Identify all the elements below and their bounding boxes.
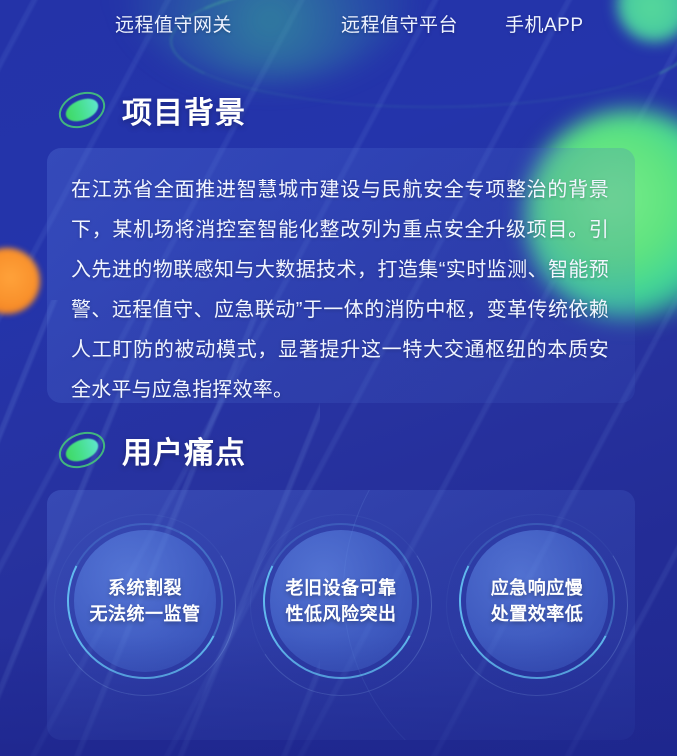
pain-point-label: 系统割裂 无法统一监管 <box>90 575 201 627</box>
project-background-text: 在江苏省全面推进智慧城市建设与民航安全专项整治的背景下，某机场将消控室智能化整改… <box>71 170 609 403</box>
section-title-project-background: 项目背景 <box>122 88 246 132</box>
pain-point-circle-system-fragmentation[interactable]: 系统割裂 无法统一监管 <box>74 530 216 672</box>
user-pain-points-panel: 系统割裂 无法统一监管 老旧设备可靠 性低风险突出 应急响应慢 处置效率低 <box>47 490 635 740</box>
section-header-user-pain-points: 用户痛点 <box>58 428 246 472</box>
pain-point-list: 系统割裂 无法统一监管 老旧设备可靠 性低风险突出 应急响应慢 处置效率低 <box>47 530 635 730</box>
infographic-page: 远程值守网关 远程值守平台 手机APP 项目背景 在江苏省全面推进智慧城市建设与… <box>0 0 677 756</box>
ellipse-bullet-icon <box>58 433 106 467</box>
top-nav-item-platform[interactable]: 远程值守平台 <box>341 10 458 37</box>
pain-point-label: 应急响应慢 处置效率低 <box>491 575 584 627</box>
top-nav: 远程值守网关 远程值守平台 手机APP <box>0 10 677 46</box>
orange-orb-left-decoration <box>0 248 40 314</box>
pain-point-label: 老旧设备可靠 性低风险突出 <box>286 575 397 627</box>
project-background-panel: 在江苏省全面推进智慧城市建设与民航安全专项整治的背景下，某机场将消控室智能化整改… <box>47 148 635 403</box>
ellipse-bullet-icon <box>58 93 106 127</box>
section-title-user-pain-points: 用户痛点 <box>122 428 246 472</box>
top-nav-item-gateway[interactable]: 远程值守网关 <box>115 10 232 37</box>
pain-point-circle-slow-emergency-response[interactable]: 应急响应慢 处置效率低 <box>466 530 608 672</box>
pain-point-circle-legacy-equipment[interactable]: 老旧设备可靠 性低风险突出 <box>270 530 412 672</box>
section-header-project-background: 项目背景 <box>58 88 246 132</box>
top-nav-item-mobile-app[interactable]: 手机APP <box>505 10 584 37</box>
